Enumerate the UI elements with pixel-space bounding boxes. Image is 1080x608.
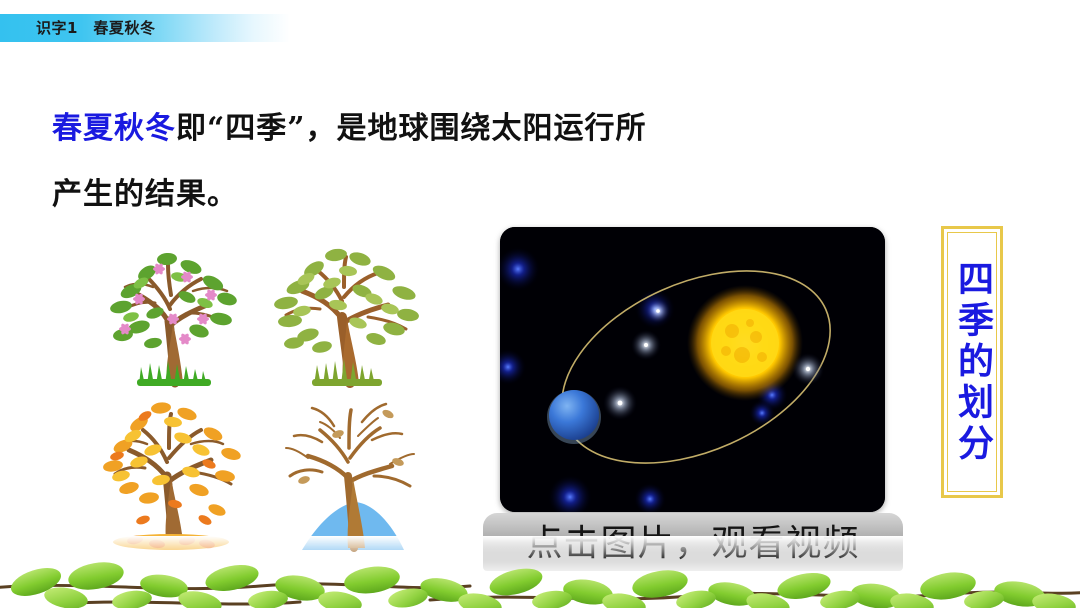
vertical-title-inner-border: 四季的划分	[947, 232, 997, 492]
paragraph-line2: 产生的结果。	[52, 162, 982, 228]
paragraph-line1-rest: 即“四季”，是地球围绕太阳运行所	[176, 111, 647, 146]
vertical-title-box: 四季的划分	[941, 226, 1003, 498]
spring-tree-illustration	[95, 243, 260, 388]
summer-tree-illustration	[258, 243, 433, 388]
footer-leaf-decoration	[0, 536, 1080, 608]
paragraph-keyword: 春夏秋冬	[52, 111, 176, 146]
lesson-paragraph: 春夏秋冬即“四季”，是地球围绕太阳运行所 产生的结果。	[52, 96, 982, 228]
autumn-tree-illustration	[95, 392, 260, 557]
page-title: 识字1 春夏秋冬	[36, 16, 155, 40]
video-thumbnail-button[interactable]	[500, 227, 885, 512]
vertical-title-text: 四季的划分	[954, 260, 990, 465]
winter-tree-illustration	[262, 392, 432, 557]
slide-canvas: 识字1 春夏秋冬 春夏秋冬即“四季”，是地球围绕太阳运行所 产生的结果。	[0, 0, 1080, 608]
